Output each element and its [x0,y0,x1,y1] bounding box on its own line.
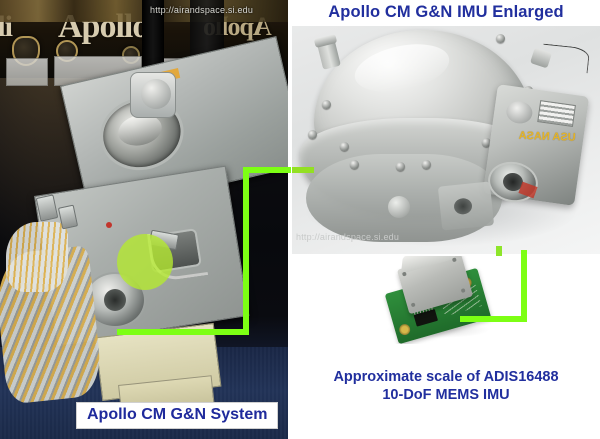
connector-imu-to-mems-segment [521,250,527,322]
connector-gn-to-imu-segment [243,167,291,173]
exhibit-info-panel [6,58,48,86]
title-imu-enlarged: Apollo CM G&N IMU Enlarged [292,3,600,22]
imu-bolt-icon [308,130,317,139]
mems-screw-icon [411,302,416,307]
imu-round-cap [505,100,534,125]
caption-mems-line1: Approximate scale of ADIS16488 [292,368,600,386]
gn-cylindrical-boss [130,72,176,118]
caption-mems-imu: Approximate scale of ADIS16488 10-DoF ME… [292,368,600,404]
mems-screw-icon [461,288,466,293]
connector-imu-to-mems-segment [460,316,527,322]
imu-bolt-icon [322,100,331,109]
imu-bolt-icon [496,34,505,43]
imu-location-highlight-circle [117,234,173,290]
adis16488-mems-imu-photo [378,256,502,344]
imu-vent-grille [537,100,576,127]
imu-bolt-icon [396,162,405,171]
imu-mount-bracket [438,181,494,230]
caption-mems-line2: 10-DoF MEMS IMU [292,386,600,404]
red-indicator-dot [106,222,112,228]
label-apollo-gn-system: Apollo CM G&N System [76,402,278,429]
connector-gn-to-imu-arrow [292,167,314,173]
signage-word-left: lli [0,10,12,44]
watermark-left: http://airandspace.si.edu [150,5,253,15]
imu-top-connector [317,40,341,70]
connector-gn-to-imu-segment [117,329,249,335]
apollo-imu-photo: USA NASA http://airandspace.si.edu [292,26,600,254]
watermark-imu: http://airandspace.si.edu [296,232,399,242]
imu-bolt-icon [422,160,431,169]
connector-gn-to-imu-segment [243,167,249,335]
connector-imu-to-mems-arrow [496,246,502,256]
imu-bolt-icon [350,160,359,169]
imu-knob [388,196,410,218]
mems-mounting-hole [398,323,412,337]
mems-screw-icon [452,257,457,262]
figure-root: lli Apollo Apollo h [0,0,600,439]
gn-cable-harness [6,222,68,292]
imu-bolt-icon [340,142,349,151]
mems-screw-icon [402,272,407,277]
label-apollo-gn-system-text: Apollo CM G&N System [87,406,267,423]
